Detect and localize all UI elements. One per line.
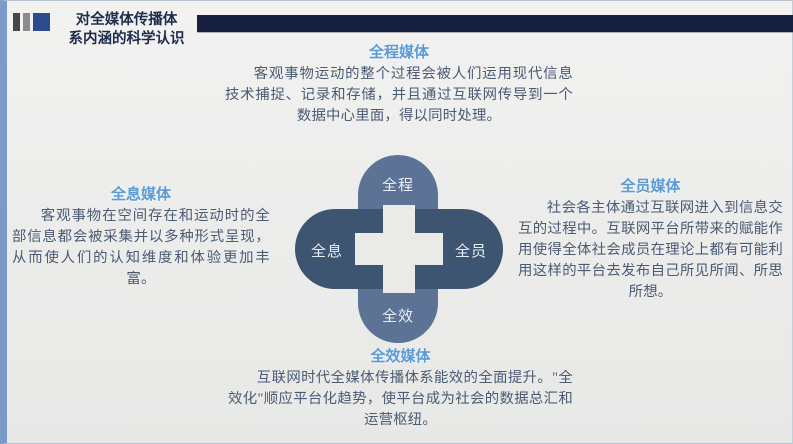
cross-label-right: 全员 [443,240,499,261]
block-quanyuan-title: 全员媒体 [518,178,783,196]
cross-label-left: 全息 [299,240,355,261]
block-quanxi-body: 客观事物在空间存在和运动时的全部信息都会被采集并以多种形式呈现，从而使人们的认知… [12,206,270,290]
accent-bar-blue-icon [33,13,50,31]
header-accent-bars [13,13,50,31]
accent-bar-gray-icon [23,13,30,31]
header-navy-bar [197,15,793,32]
block-quanxi-title: 全息媒体 [12,186,270,204]
block-quancheng: 全程媒体 客观事物运动的整个过程会被人们运用现代信息技术捕捉、记录和存储，并且通… [225,44,573,127]
block-quanxiao-title: 全效媒体 [228,348,573,366]
block-quanxiao: 全效媒体 互联网时代全媒体传播体系能效的全面提升。"全效化"顺应平台化趋势，使平… [228,348,573,431]
block-quanyuan: 全员媒体 社会各主体通过互联网进入到信息交互的过程中。互联网平台所带来的赋能作用… [518,178,783,303]
block-quancheng-body: 客观事物运动的整个过程会被人们运用现代信息技术捕捉、记录和存储，并且通过互联网传… [225,64,573,127]
page-title-line2: 系内涵的科学认识 [54,30,199,49]
block-quanyuan-body: 社会各主体通过互联网进入到信息交互的过程中。互联网平台所带来的赋能作用使得全体社… [518,198,783,303]
slide-canvas: 对全媒体传播体 系内涵的科学认识 全程媒体 客观事物运动的整个过程会被人们运用现… [0,0,793,444]
cross-diagram: 全程 全息 全员 全效 [295,155,503,343]
page-title-line1: 对全媒体传播体 [54,11,199,30]
cross-label-top: 全程 [358,174,438,195]
block-quanxiao-body: 互联网时代全媒体传播体系能效的全面提升。"全效化"顺应平台化趋势，使平台成为社会… [228,368,573,431]
cross-label-bottom: 全效 [358,305,438,326]
accent-bar-dark-icon [13,13,20,31]
page-title: 对全媒体传播体 系内涵的科学认识 [54,11,199,49]
cross-plus-cutout-icon [355,205,443,293]
block-quancheng-title: 全程媒体 [225,44,573,62]
block-quanxi: 全息媒体 客观事物在空间存在和运动时的全部信息都会被采集并以多种形式呈现，从而使… [12,186,270,290]
